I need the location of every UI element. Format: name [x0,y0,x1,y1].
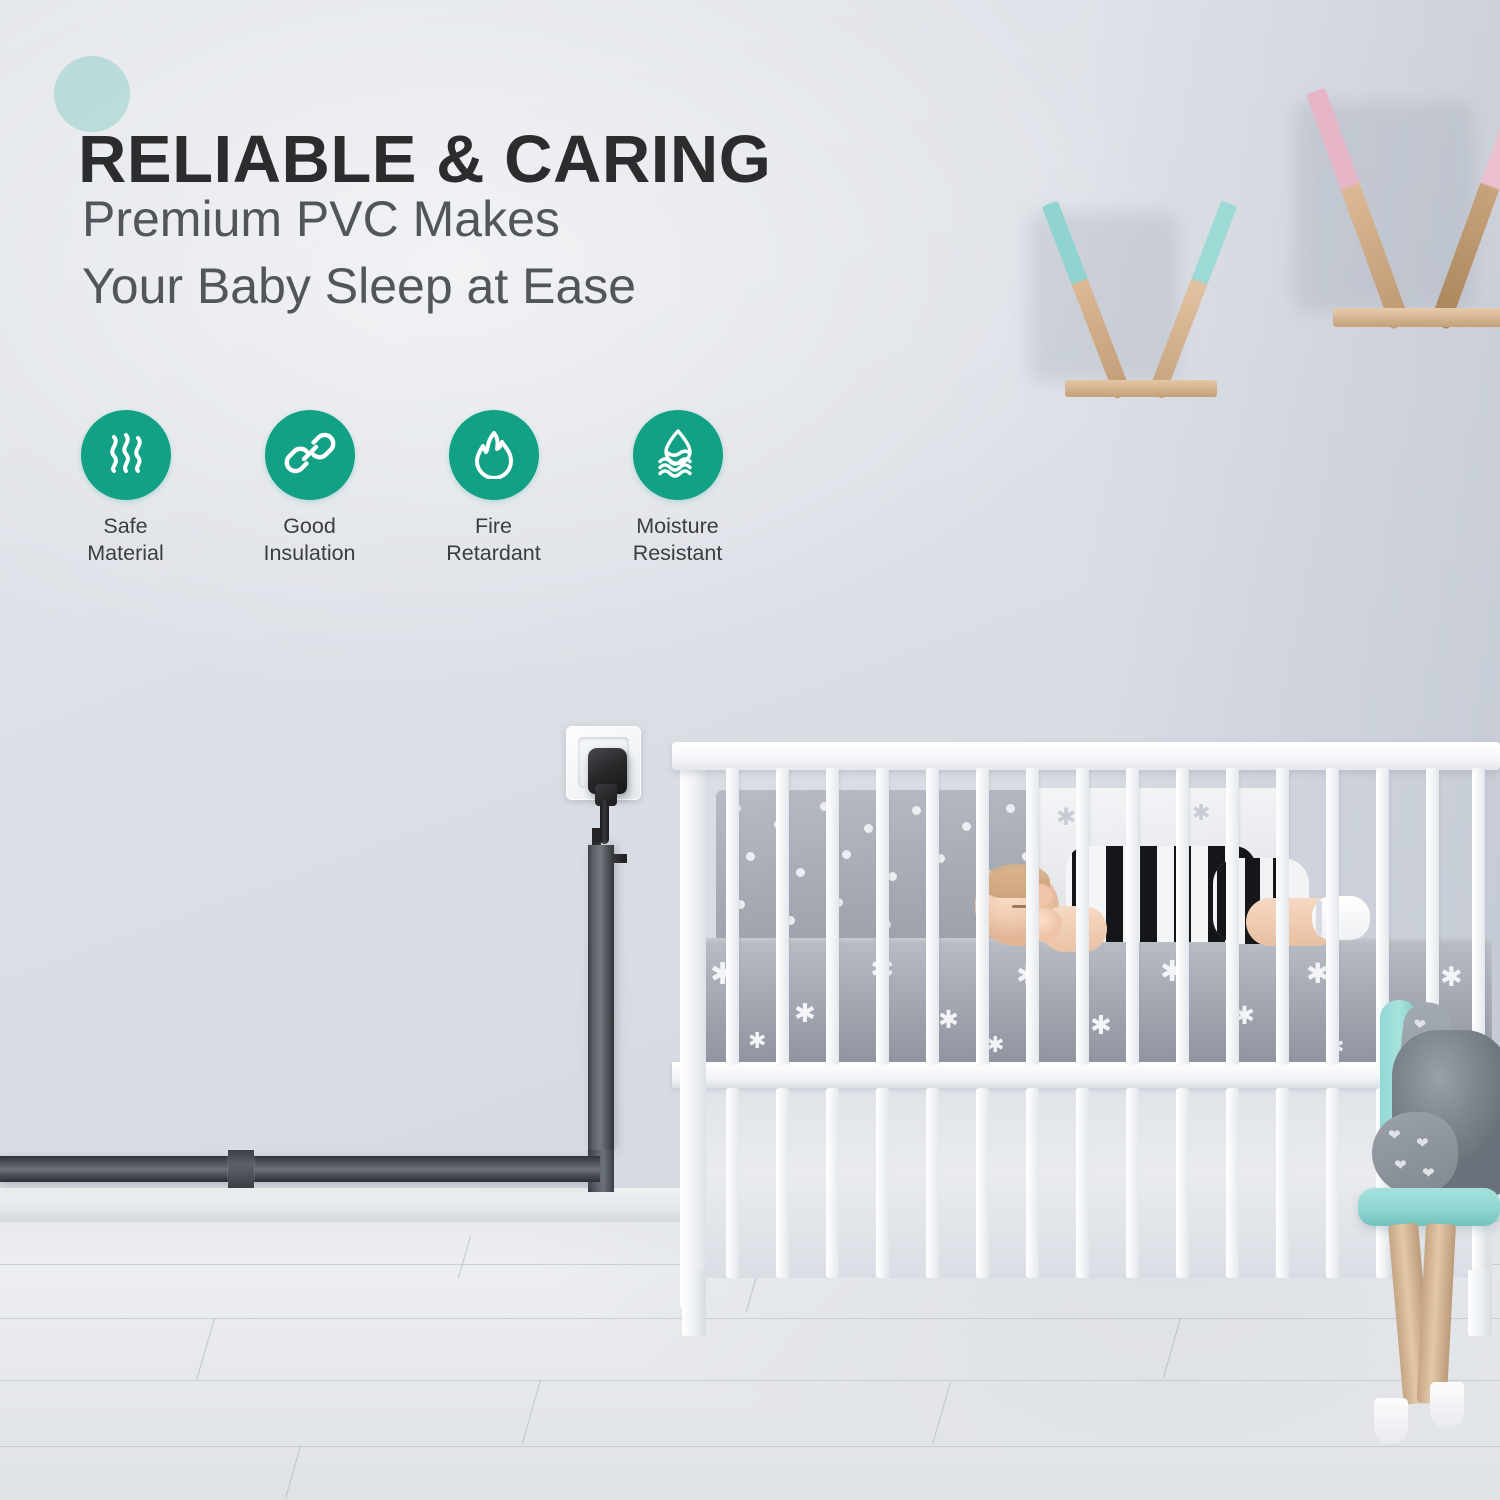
cable-raceway-horizontal [0,1156,600,1182]
feature-label-line-2: Material [87,540,163,567]
stool-leg-tip-front [1374,1398,1408,1444]
feature-label-line-2: Retardant [446,540,540,567]
crib-leg-left [682,1270,706,1336]
shelf-base [1333,308,1500,327]
plush-bunny-foot: ❤ ❤ ❤ ❤ [1372,1112,1458,1194]
crib-middle-rail [672,1062,1500,1088]
feature-label-line-2: Resistant [633,540,723,567]
subheading-line-1: Premium PVC Makes [82,186,636,253]
feature-label-line-1: Moisture [633,513,723,540]
feature-label-line-1: Fire [446,513,540,540]
teepee-shelf-pink [1325,76,1500,326]
feature-label-line-2: Insulation [263,540,355,567]
subheading: Premium PVC Makes Your Baby Sleep at Eas… [82,186,636,320]
teepee-shelf-mint [1055,190,1215,395]
feature-icon-badge [633,410,723,500]
flame-icon [469,427,519,484]
power-cable [600,800,609,844]
stool-seat [1358,1188,1500,1226]
feature-icon-badge [265,410,355,500]
cable-raceway-vertical [588,845,614,1150]
feature-label: Fire Retardant [446,513,540,567]
subheading-line-2: Your Baby Sleep at Ease [82,253,636,320]
raceway-joint-connector [228,1150,254,1188]
feature-icon-badge [449,410,539,500]
feature-safe-material: Safe Material [78,410,173,567]
heat-waves-icon [100,427,152,484]
feature-label-line-1: Good [263,513,355,540]
baby-sock-band [1316,900,1322,936]
water-drop-icon [651,426,705,485]
chain-link-icon [284,427,336,484]
feature-label: Good Insulation [263,513,355,567]
shelf-base [1065,380,1217,397]
feature-icon-badge [81,410,171,500]
stool-leg-tip-back [1430,1382,1464,1428]
crib-leg-right [1468,1270,1492,1336]
feature-list: Safe Material Good Insulation [78,410,725,567]
crib-mattress: ✱ ✱ ✱ ✱ ✱ ✱ ✱ ✱ ✱ ✱ ✱ ✱ ✱ ✱ [686,938,1492,1064]
feature-good-insulation: Good Insulation [262,410,357,567]
feature-moisture-resistant: Moisture Resistant [630,410,725,567]
feature-label: Safe Material [87,513,163,567]
product-marketing-image: ✱ ✱ ✱ ✱ ✱ ✱ ✱ ✱ ✱ ✱ ✱ ✱ ✱ ✱ ✱ ✱ ✱ ✱ ✱ ✱ … [0,0,1500,1500]
feature-fire-retardant: Fire Retardant [446,410,541,567]
feature-label-line-1: Safe [87,513,163,540]
crib-corner-post [680,742,706,1308]
feature-label: Moisture Resistant [633,513,723,567]
crib-top-rail [672,742,1500,770]
